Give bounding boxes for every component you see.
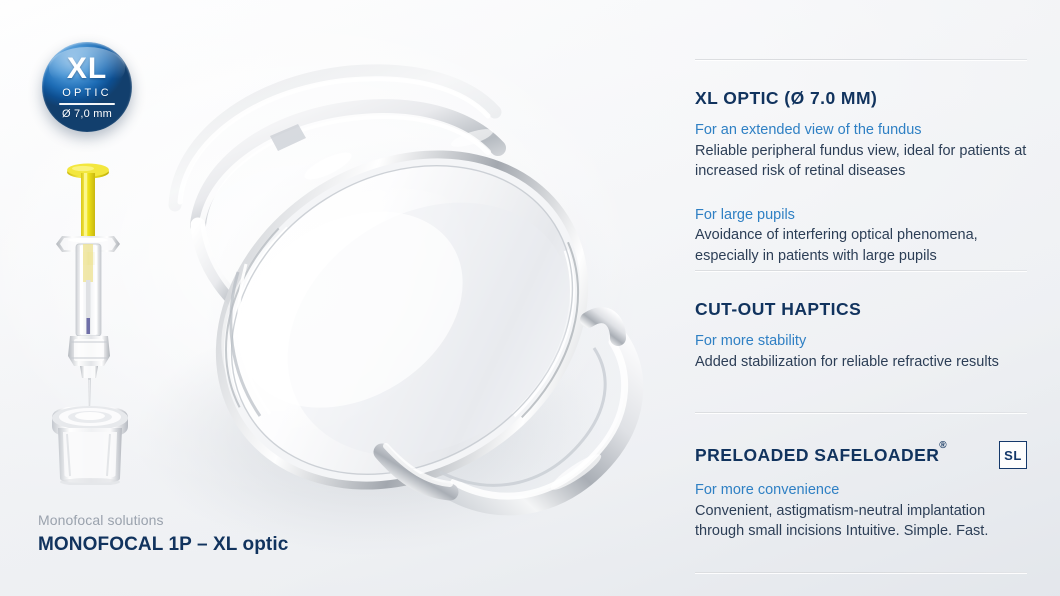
feature-section-3: PRELOADED SAFELOADER® SL For more conven…: [695, 412, 1027, 542]
feature-heading-row: PRELOADED SAFELOADER® SL: [695, 441, 1027, 469]
intraocular-lens-image: [120, 20, 700, 580]
registered-trademark-icon: ®: [939, 440, 947, 451]
caption-eyebrow: Monofocal solutions: [38, 512, 288, 528]
badge-title: XL: [67, 54, 107, 84]
feature-subheading: For more stability: [695, 331, 1027, 352]
feature-section-1: XL OPTIC (Ø 7.0 MM) For an extended view…: [695, 59, 1027, 266]
feature-heading-row: XL OPTIC (Ø 7.0 MM): [695, 88, 1027, 109]
feature-heading-cut-out-haptics: CUT-OUT HAPTICS: [695, 299, 861, 320]
xl-optic-badge: XL OPTIC Ø 7,0 mm: [42, 42, 132, 132]
feature-section-2: CUT-OUT HAPTICS For more stability Added…: [695, 270, 1027, 372]
section-divider-bottom: [695, 572, 1027, 573]
feature-body: Added stabilization for reliable refract…: [695, 352, 1027, 373]
feature-subheading: For large pupils: [695, 205, 1027, 226]
slide-caption: Monofocal solutions MONOFOCAL 1P – XL op…: [38, 512, 288, 556]
feature-body: Reliable peripheral fundus view, ideal f…: [695, 141, 1027, 182]
caption-title: MONOFOCAL 1P – XL optic: [38, 534, 288, 556]
safeloader-sl-badge: SL: [999, 441, 1027, 469]
preloaded-injector-image: [36, 160, 146, 485]
badge-subtitle: OPTIC: [62, 87, 112, 99]
feature-panel: XL OPTIC (Ø 7.0 MM) For an extended view…: [695, 0, 1027, 596]
feature-section-bottom-divider: [695, 572, 1027, 573]
feature-body: Avoidance of interfering optical phenome…: [695, 225, 1027, 266]
feature-subheading: For more convenience: [695, 480, 1027, 501]
heading-text: PRELOADED SAFELOADER: [695, 445, 939, 465]
feature-heading-preloaded-safeloader: PRELOADED SAFELOADER®: [695, 445, 947, 466]
feature-subheading: For an extended view of the fundus: [695, 120, 1027, 141]
badge-diameter: Ø 7,0 mm: [62, 108, 112, 120]
feature-body: Convenient, astigmatism-neutral implanta…: [695, 501, 1027, 542]
feature-heading-xl-optic: XL OPTIC (Ø 7.0 MM): [695, 88, 877, 109]
spacer: [695, 182, 1027, 194]
product-slide: XL OPTIC Ø 7,0 mm: [0, 0, 1060, 596]
feature-heading-row: CUT-OUT HAPTICS: [695, 299, 1027, 320]
badge-divider: [59, 103, 115, 105]
